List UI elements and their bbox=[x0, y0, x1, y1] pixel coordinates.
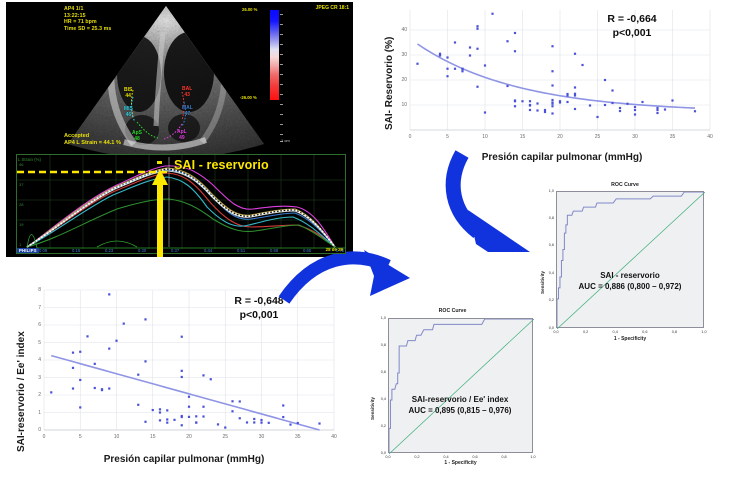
roc-x-tick: 0,6 bbox=[639, 330, 651, 334]
axis-tick-label: 25 bbox=[591, 134, 605, 140]
strain-x-tick: 0.51 bbox=[237, 248, 245, 253]
roc-y-tick: 1,0 bbox=[374, 316, 386, 320]
scatter-point bbox=[544, 111, 546, 113]
scatter-point bbox=[611, 102, 613, 104]
scatter-point bbox=[469, 54, 471, 56]
axis-tick-label: 10 bbox=[478, 134, 492, 140]
axis-tick-label: 5 bbox=[441, 134, 455, 140]
scatter-point bbox=[454, 41, 456, 43]
scatter-point bbox=[574, 94, 576, 96]
scatter-point bbox=[521, 100, 523, 102]
sai-reservorio-callout-label: SAI - reservorio bbox=[174, 158, 269, 172]
axis-tick-label: 30 bbox=[393, 52, 407, 58]
scatter-point bbox=[626, 103, 628, 105]
roc-y-tick: 0,8 bbox=[374, 343, 386, 347]
scatter-point bbox=[181, 370, 183, 372]
scatter-point bbox=[634, 106, 636, 108]
axis-tick-label: 15 bbox=[146, 434, 160, 440]
roc-y-tick: 0,2 bbox=[374, 424, 386, 428]
scatter-point bbox=[446, 56, 448, 58]
roc-x-tick: 1,0 bbox=[698, 330, 710, 334]
strain-y-tick: 19 bbox=[19, 222, 23, 227]
depth-tick-marks bbox=[280, 10, 284, 145]
axis-tick-label: 20 bbox=[553, 134, 567, 140]
scatter-point bbox=[210, 378, 212, 380]
axis-tick-label: 30 bbox=[628, 134, 642, 140]
roc-x-tick: 0,0 bbox=[550, 330, 562, 334]
axis-tick-label: 6 bbox=[27, 322, 41, 328]
scatter-point bbox=[94, 363, 96, 365]
scatter-point bbox=[108, 387, 110, 389]
axis-tick-label: 10 bbox=[110, 434, 124, 440]
scatter-point bbox=[144, 318, 146, 320]
axis-tick-label: 35 bbox=[291, 434, 305, 440]
scatter-point bbox=[566, 101, 568, 103]
scatter-point bbox=[544, 109, 546, 111]
scatter-point bbox=[224, 426, 226, 428]
scatter-point bbox=[514, 50, 516, 52]
scatter-point bbox=[318, 422, 320, 424]
scatter-point bbox=[551, 70, 553, 72]
strain-y-tick: 46 bbox=[19, 162, 23, 167]
scatter-point bbox=[202, 415, 204, 417]
scatter-point bbox=[86, 335, 88, 337]
scatter-point bbox=[559, 101, 561, 103]
scatter-point bbox=[656, 109, 658, 111]
scatter-point bbox=[484, 111, 486, 113]
axis-tick-label: 0 bbox=[403, 134, 417, 140]
scatter-point bbox=[469, 46, 471, 48]
scatter-point bbox=[181, 336, 183, 338]
scatter-point bbox=[72, 352, 74, 354]
echo-accepted-strain-text: Accepted AP4 L Strain = 44.1 % bbox=[64, 133, 121, 148]
roc-x-tick: 0,6 bbox=[469, 455, 481, 459]
segment-label-apl: ApL 49 bbox=[177, 130, 187, 141]
scatter-point bbox=[282, 404, 284, 406]
scatter-point bbox=[461, 68, 463, 70]
segment-label-bis: BIS 44 bbox=[124, 88, 132, 99]
strain-x-tick: 0.44 bbox=[204, 248, 212, 253]
axis-tick-label: 4 bbox=[27, 357, 41, 363]
roc-x-tick: 0,4 bbox=[609, 330, 621, 334]
scatter-point bbox=[476, 86, 478, 88]
scatter-point bbox=[289, 423, 291, 425]
scatter-point bbox=[454, 68, 456, 70]
scatter-point bbox=[181, 376, 183, 378]
axis-tick-label: 15 bbox=[516, 134, 530, 140]
scatter-point bbox=[268, 422, 270, 424]
roc-y-tick: 0,0 bbox=[374, 451, 386, 455]
scatter1-stats-annotation: R = -0,664 p<0,001 bbox=[557, 12, 707, 40]
scatter-point bbox=[188, 416, 190, 418]
scatter-point bbox=[231, 400, 233, 402]
scatter-point bbox=[634, 109, 636, 111]
axis-tick-label: 20 bbox=[182, 434, 196, 440]
scatter-point bbox=[159, 419, 161, 421]
scatter-point bbox=[195, 421, 197, 423]
scatter2-x-axis-title: Presión capilar pulmonar (mmHg) bbox=[34, 454, 334, 465]
scatter-point bbox=[260, 422, 262, 424]
scatter-point bbox=[506, 40, 508, 42]
strain-x-tick: 0.30 bbox=[138, 248, 146, 253]
colorbar-max-label: 26.00 % bbox=[242, 7, 257, 12]
scatter-point bbox=[536, 102, 538, 104]
roc-x-tick: 0,8 bbox=[668, 330, 680, 334]
scatter-point bbox=[239, 417, 241, 419]
strain-x-tick: 0.09 bbox=[39, 248, 47, 253]
roc-x-tick: 0,8 bbox=[498, 455, 510, 459]
scatter-point bbox=[574, 108, 576, 110]
scatter-point bbox=[491, 13, 493, 15]
scatter-point bbox=[529, 100, 531, 102]
scatter-point bbox=[574, 53, 576, 55]
scatter-point bbox=[551, 105, 553, 107]
scatter-point bbox=[439, 54, 441, 56]
axis-tick-label: 40 bbox=[703, 134, 717, 140]
philips-logo: PHILIPS bbox=[17, 248, 39, 253]
scatter-point bbox=[589, 104, 591, 106]
scatter-point bbox=[551, 112, 553, 114]
scatter-point bbox=[152, 409, 154, 411]
scatter-point bbox=[416, 63, 418, 65]
scatter-point bbox=[79, 379, 81, 381]
echo-scale-label: 1 cm bbox=[281, 138, 290, 143]
scatter-point bbox=[514, 32, 516, 34]
scatter-point bbox=[671, 99, 673, 101]
scatter-point bbox=[664, 108, 666, 110]
axis-tick-label: 1 bbox=[27, 410, 41, 416]
scatter-point bbox=[656, 107, 658, 109]
scatter-point bbox=[529, 104, 531, 106]
scatter-point bbox=[551, 99, 553, 101]
scatter-point bbox=[506, 85, 508, 87]
scatter-point bbox=[253, 421, 255, 423]
axis-tick-label: 35 bbox=[666, 134, 680, 140]
roc-y-tick: 0,4 bbox=[542, 271, 554, 275]
axis-tick-label: 5 bbox=[73, 434, 87, 440]
sai-measure-arrow-icon bbox=[152, 169, 168, 257]
scatter-point bbox=[514, 100, 516, 102]
roc-y-tick: 0,6 bbox=[374, 370, 386, 374]
axis-tick-label: 7 bbox=[27, 305, 41, 311]
scatter-point bbox=[551, 84, 553, 86]
scatter-point bbox=[446, 75, 448, 77]
scatter-point bbox=[246, 421, 248, 423]
scatter-point bbox=[166, 409, 168, 411]
scatter-point bbox=[79, 406, 81, 408]
scatter-point bbox=[123, 323, 125, 325]
strain-x-tick: 0.58 bbox=[270, 248, 278, 253]
scatter-point bbox=[195, 415, 197, 417]
axis-tick-label: 10 bbox=[393, 102, 407, 108]
strain-y-tick: 37 bbox=[19, 182, 23, 187]
segment-label-mis: MIS 46 bbox=[124, 107, 133, 118]
axis-tick-label: 3 bbox=[27, 375, 41, 381]
arrow-top-to-roc1-icon bbox=[440, 148, 570, 260]
scatter-point bbox=[159, 408, 161, 410]
scatter-point bbox=[115, 340, 117, 342]
scatter-point bbox=[79, 351, 81, 353]
axis-tick-label: 20 bbox=[393, 77, 407, 83]
strain-x-tick: 0.65 bbox=[303, 248, 311, 253]
roc-x-tick: 0,4 bbox=[440, 455, 452, 459]
scatter-point bbox=[476, 28, 478, 30]
scatter-point bbox=[173, 419, 175, 421]
scatter-point bbox=[581, 64, 583, 66]
strain-y-tick: 1 bbox=[19, 242, 21, 247]
strain-y-tick: 28 bbox=[19, 202, 23, 207]
strain-colorbar bbox=[270, 10, 279, 100]
scatter-point bbox=[529, 109, 531, 111]
axis-tick-label: 40 bbox=[393, 27, 407, 33]
roc-x-tick: 1,0 bbox=[527, 455, 539, 459]
axis-tick-label: 0 bbox=[37, 434, 51, 440]
scatter-point bbox=[260, 419, 262, 421]
scatter-point bbox=[551, 45, 553, 47]
scatter-point bbox=[514, 105, 516, 107]
scatter-point bbox=[101, 388, 103, 390]
roc-x-tick: 0,2 bbox=[580, 330, 592, 334]
scatter-point bbox=[297, 422, 299, 424]
colorbar-min-label: -26.00 % bbox=[240, 95, 257, 100]
scatter-point bbox=[188, 406, 190, 408]
scatter-point bbox=[72, 367, 74, 369]
segment-label-aps: ApS 48 bbox=[132, 131, 142, 142]
scatter-point bbox=[574, 86, 576, 88]
scatter-point bbox=[634, 113, 636, 115]
echo-compression-label: JPEG CR 18:1 bbox=[316, 5, 349, 11]
scatter-point bbox=[188, 396, 190, 398]
strain-x-tick: 0.23 bbox=[105, 248, 113, 253]
scatter-point bbox=[144, 421, 146, 423]
scatter-point bbox=[611, 89, 613, 91]
scatter-point bbox=[108, 348, 110, 350]
scatter-point bbox=[144, 360, 146, 362]
scatter-point bbox=[159, 411, 161, 413]
scatter-point bbox=[231, 410, 233, 412]
scatter-point bbox=[694, 110, 696, 112]
scatter-point bbox=[108, 293, 110, 295]
segment-label-mal: MAL 47 bbox=[182, 106, 193, 117]
scatter-point bbox=[446, 68, 448, 70]
scatter-point bbox=[202, 374, 204, 376]
roc2-plot-area bbox=[388, 318, 533, 453]
strain-x-tick: 0.16 bbox=[72, 248, 80, 253]
scatter-point bbox=[536, 109, 538, 111]
scatter-point bbox=[619, 107, 621, 109]
scatter-point bbox=[202, 406, 204, 408]
axis-tick-label: 2 bbox=[27, 392, 41, 398]
roc2-auc-annotation: SAI-reservorio / Ee' index AUC = 0,895 (… bbox=[390, 394, 530, 416]
scatter-point bbox=[604, 104, 606, 106]
scatter-point bbox=[619, 110, 621, 112]
scatter-point bbox=[476, 48, 478, 50]
axis-tick-label: 5 bbox=[27, 340, 41, 346]
scatter-point bbox=[166, 418, 168, 420]
roc1-curve-svg bbox=[557, 192, 705, 329]
roc-y-tick: 0,4 bbox=[374, 397, 386, 401]
scatter-point bbox=[137, 374, 139, 376]
roc2-x-axis-title: 1 - Specificity bbox=[388, 460, 533, 466]
frame-counter-label: 28 de 29 bbox=[326, 247, 343, 252]
echocardiogram-panel: AP4 1/1 13:22:15 HR = 71 bpm Time SD = 2… bbox=[6, 2, 353, 257]
axis-tick-label: 40 bbox=[327, 434, 341, 440]
scatter-point bbox=[181, 424, 183, 426]
scatter-point bbox=[476, 25, 478, 27]
scatter-point bbox=[217, 423, 219, 425]
scatter-point bbox=[656, 112, 658, 114]
scatter-point bbox=[596, 116, 598, 118]
echo-metadata-text: AP4 1/1 13:22:15 HR = 71 bpm Time SD = 2… bbox=[64, 6, 111, 32]
strain-x-tick: 0.37 bbox=[171, 248, 179, 253]
scatter-point bbox=[551, 103, 553, 105]
scatter-point bbox=[641, 101, 643, 103]
segment-label-bal: BAL 43 bbox=[182, 87, 192, 98]
scatter-point bbox=[461, 70, 463, 72]
axis-tick-label: 0 bbox=[27, 427, 41, 433]
scatter-point bbox=[50, 391, 52, 393]
axis-tick-label: 30 bbox=[255, 434, 269, 440]
roc1-plot-area bbox=[556, 191, 704, 328]
axis-tick-label: 25 bbox=[218, 434, 232, 440]
scatter-point bbox=[484, 64, 486, 66]
scatter-point bbox=[253, 418, 255, 420]
roc1-auc-annotation: SAI - reservorio AUC = 0,886 (0,800 – 0,… bbox=[564, 270, 696, 292]
roc2-curve-svg bbox=[389, 319, 534, 454]
roc1-x-axis-title: 1 - Specificity bbox=[556, 336, 704, 342]
scatter-point bbox=[72, 387, 74, 389]
scatter-point bbox=[181, 416, 183, 418]
roc-y-tick: 0,2 bbox=[542, 298, 554, 302]
axis-tick-label: 8 bbox=[27, 287, 41, 293]
roc-chart-sai-ee-index: ROC Curve Sensitivity 0,00,20,40,60,81,0… bbox=[360, 308, 545, 483]
scatter-point bbox=[239, 400, 241, 402]
scatter-point bbox=[94, 387, 96, 389]
scatter-point bbox=[282, 416, 284, 418]
sai-reference-dashed-line bbox=[17, 170, 169, 174]
roc-x-tick: 0,2 bbox=[411, 455, 423, 459]
scatter-point bbox=[166, 422, 168, 424]
scatter-point bbox=[137, 404, 139, 406]
scatter-point bbox=[604, 79, 606, 81]
roc-x-tick: 0,0 bbox=[382, 455, 394, 459]
scatter-point bbox=[566, 94, 568, 96]
